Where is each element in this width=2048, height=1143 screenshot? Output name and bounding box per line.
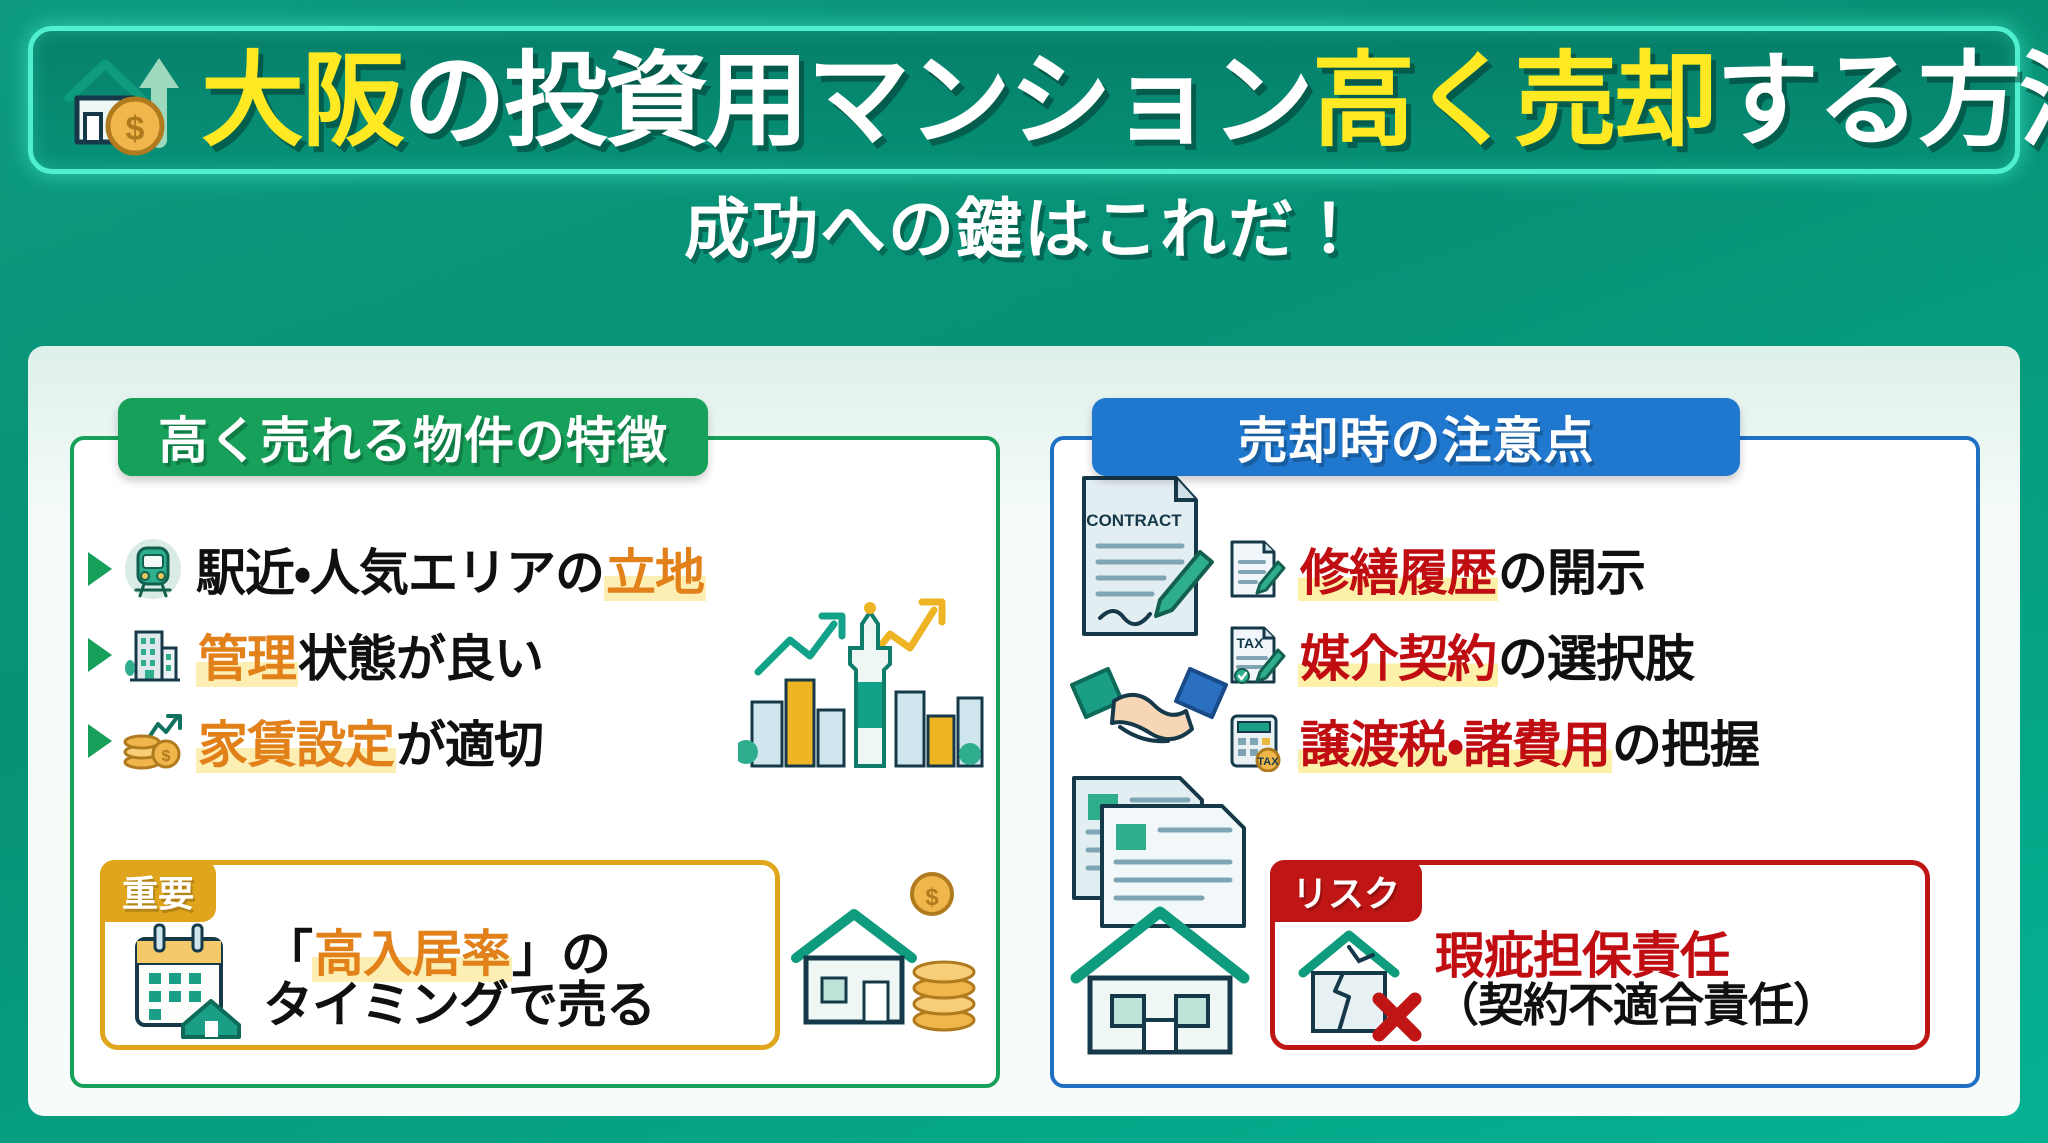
list-item-label: 譲渡税・諸費用の把握 — [1298, 705, 1759, 777]
important-callout-text: 「高入居率」の タイミングで売る — [263, 929, 655, 1031]
svg-text:$: $ — [126, 110, 145, 148]
panel-cautions: CONTRACT — [1050, 398, 1980, 1088]
tab-features[interactable]: 高く売れる物件の特徴 — [118, 398, 708, 476]
title-part-3: する方法 — [1716, 43, 2048, 158]
list-item: 駅近・人気エリアの立地 — [74, 526, 996, 612]
cautions-row-spacer — [1068, 612, 1218, 698]
bullet-arrow-icon — [88, 638, 112, 672]
features-list: 駅近・人気エリアの立地 — [74, 526, 996, 784]
risk-callout-inner: 瑕疵担保責任 （契約不適合責任） — [1293, 917, 1915, 1042]
item-text-highlight: 立地 — [604, 545, 706, 601]
train-icon — [122, 538, 184, 600]
apartment-building-icon — [122, 624, 184, 686]
callout-line-2: （契約不適合責任） — [1433, 982, 1838, 1029]
list-item: $ 家賃設定が適切 — [74, 698, 996, 784]
item-text-part: の把握 — [1612, 717, 1759, 773]
tab-cautions[interactable]: 売却時の注意点 — [1092, 398, 1740, 476]
svg-text:TAX: TAX — [1257, 756, 1279, 768]
content-board: $ — [28, 346, 2020, 1116]
important-callout-inner: 「高入居率」の タイミングで売る — [123, 917, 765, 1042]
svg-text:$: $ — [162, 748, 171, 765]
item-text-highlight: 家賃設定 — [196, 717, 396, 773]
risk-callout-text: 瑕疵担保責任 （契約不適合責任） — [1433, 931, 1838, 1029]
item-text-part: 駅近・人気エリアの — [196, 545, 604, 601]
document-pen-icon — [1224, 538, 1286, 600]
list-item: TAX 媒介契約の選択肢 — [1054, 612, 1976, 698]
important-callout-card: 重要 — [100, 860, 780, 1050]
header: $ 大阪の投資用マンション高く売却する方法 成功への鍵はこれだ！ — [0, 0, 2048, 340]
item-text-highlight: 管理 — [196, 631, 298, 687]
callout-quote-close: 」の — [512, 926, 610, 982]
cracked-house-x-icon — [1293, 917, 1423, 1042]
item-text-part: の開示 — [1498, 545, 1645, 601]
house-growth-coin-icon: $ — [59, 44, 191, 156]
item-text-part: が適切 — [396, 717, 543, 773]
item-text-highlight: 修繕履歴 — [1298, 545, 1498, 601]
callout-quote-open: 「 — [263, 926, 312, 982]
page-subtitle: 成功への鍵はこれだ！ — [0, 176, 2048, 272]
panel-features: $ — [70, 398, 1000, 1088]
status-badge: 重要 — [100, 860, 216, 922]
list-item-label: 家賃設定が適切 — [196, 705, 543, 777]
callout-line-1: 瑕疵担保責任 — [1433, 931, 1838, 982]
risk-callout-card: リスク 瑕疵担保責任 （契約不適合責任） — [1270, 860, 1930, 1050]
bullet-arrow-icon — [88, 724, 112, 758]
svg-text:TAX: TAX — [1237, 635, 1265, 651]
bullet-arrow-icon — [88, 552, 112, 586]
title-frame: $ 大阪の投資用マンション高く売却する方法 — [28, 26, 2020, 174]
list-item: 修繕履歴の開示 — [1054, 526, 1976, 612]
status-badge: リスク — [1270, 860, 1422, 922]
panel-features-body: $ — [70, 436, 1000, 1088]
calendar-house-icon — [123, 917, 253, 1042]
callout-highlight: 高入居率 — [312, 926, 512, 982]
documents-house-illustration — [1062, 770, 1272, 1060]
item-text-highlight: 媒介契約 — [1298, 631, 1498, 687]
callout-line-1: 「高入居率」の — [263, 929, 655, 980]
house-coins-illustration: $ — [782, 870, 982, 1050]
title-part-0: 大阪 — [201, 43, 403, 158]
list-item-label: 管理状態が良い — [196, 619, 543, 691]
title-part-2: 高く売却 — [1312, 43, 1716, 158]
cautions-list: 修繕履歴の開示 TAX — [1054, 526, 1976, 784]
panel-cautions-body: CONTRACT — [1050, 436, 1980, 1088]
list-item-label: 駅近・人気エリアの立地 — [196, 533, 706, 605]
coins-growth-icon: $ — [122, 710, 184, 772]
list-item: 管理状態が良い — [74, 612, 996, 698]
list-item-label: 修繕履歴の開示 — [1298, 533, 1645, 605]
cautions-row-spacer — [1068, 698, 1218, 784]
calculator-tax-icon: TAX — [1224, 710, 1286, 772]
cautions-row-spacer — [1068, 526, 1218, 612]
tax-document-check-icon: TAX — [1224, 624, 1286, 686]
title-part-1: の投資用マンション — [403, 43, 1312, 158]
item-text-part: 状態が良い — [298, 631, 543, 687]
list-item-label: 媒介契約の選択肢 — [1298, 619, 1694, 691]
item-text-highlight: 譲渡税・諸費用 — [1298, 717, 1612, 773]
callout-highlight: 瑕疵担保責任 — [1433, 928, 1731, 984]
page-title: 大阪の投資用マンション高く売却する方法 — [201, 49, 2048, 152]
callout-line-2: タイミングで売る — [263, 980, 655, 1031]
svg-text:$: $ — [925, 884, 939, 911]
list-item: TAX 譲渡税・諸費用の把握 — [1054, 698, 1976, 784]
item-text-part: の選択肢 — [1498, 631, 1694, 687]
